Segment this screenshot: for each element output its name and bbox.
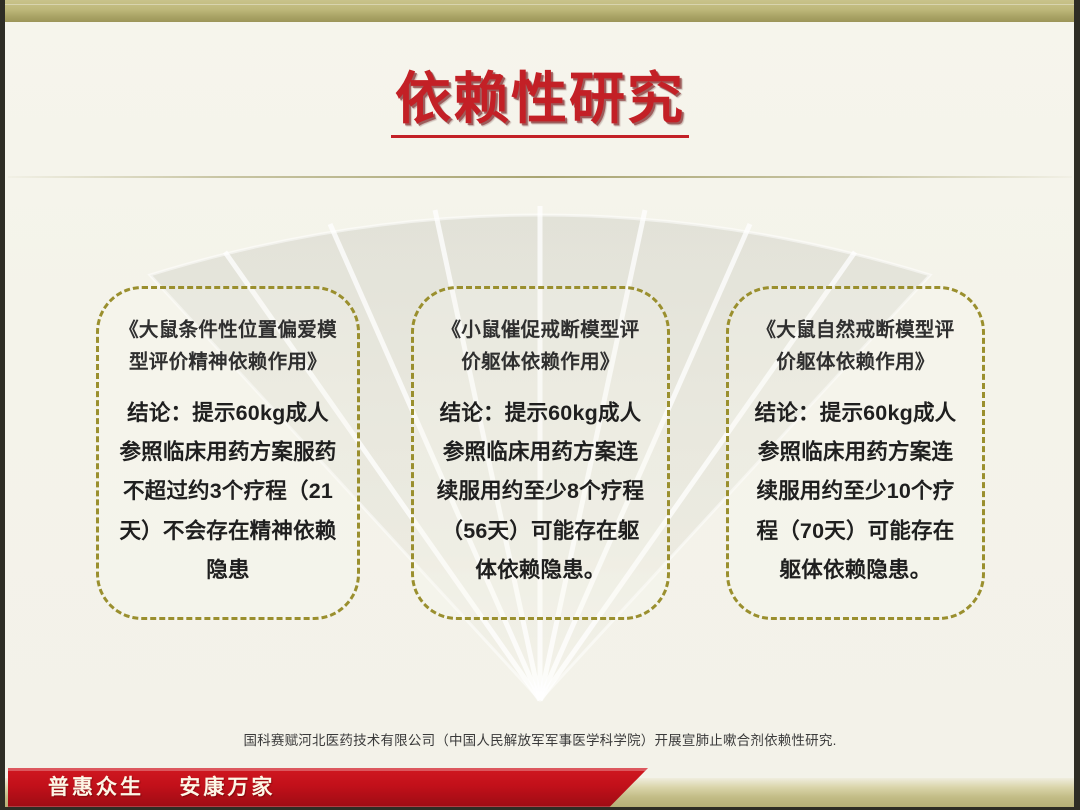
top-gold-bar <box>0 0 1080 22</box>
card-group: 《大鼠条件性位置偏爱模型评价精神依赖作用》 结论：提示60kg成人参照临床用药方… <box>0 286 1080 620</box>
study-card-3-heading: 《大鼠自然戒断模型评价躯体依赖作用》 <box>749 315 962 378</box>
study-card-3[interactable]: 《大鼠自然戒断模型评价躯体依赖作用》 结论：提示60kg成人参照临床用药方案连续… <box>726 286 985 620</box>
title-divider <box>8 176 1072 178</box>
bottom-banner: 普惠众生 安康万家 <box>0 768 1080 810</box>
study-card-2-heading: 《小鼠催促戒断模型评价躯体依赖作用》 <box>434 315 647 378</box>
frame-edge-right <box>1074 0 1080 810</box>
study-card-3-body: 结论：提示60kg成人参照临床用药方案连续服用约至少10个疗程（70天）可能存在… <box>749 394 962 590</box>
slide-canvas: 依赖性研究 《大鼠条件性位置偏爱模型评价精神依赖作用》 结论：提示60kg成人参… <box>0 0 1080 810</box>
study-card-2-body: 结论：提示60kg成人参照临床用药方案连续服用约至少8个疗程（56天）可能存在躯… <box>434 394 647 590</box>
page-title-text: 依赖性研究 <box>391 70 689 138</box>
study-card-1[interactable]: 《大鼠条件性位置偏爱模型评价精神依赖作用》 结论：提示60kg成人参照临床用药方… <box>96 286 360 620</box>
page-title: 依赖性研究 <box>0 70 1080 138</box>
study-card-2[interactable]: 《小鼠催促戒断模型评价躯体依赖作用》 结论：提示60kg成人参照临床用药方案连续… <box>411 286 670 620</box>
banner-slogan: 普惠众生 安康万家 <box>48 771 275 801</box>
footer-caption: 国科赛赋河北医药技术有限公司（中国人民解放军军事医学科学院）开展宣肺止嗽合剂依赖… <box>0 729 1080 749</box>
study-card-1-body: 结论：提示60kg成人参照临床用药方案服药不超过约3个疗程（21天）不会存在精神… <box>119 394 337 590</box>
study-card-1-heading: 《大鼠条件性位置偏爱模型评价精神依赖作用》 <box>119 315 337 378</box>
frame-edge-left <box>0 0 5 810</box>
